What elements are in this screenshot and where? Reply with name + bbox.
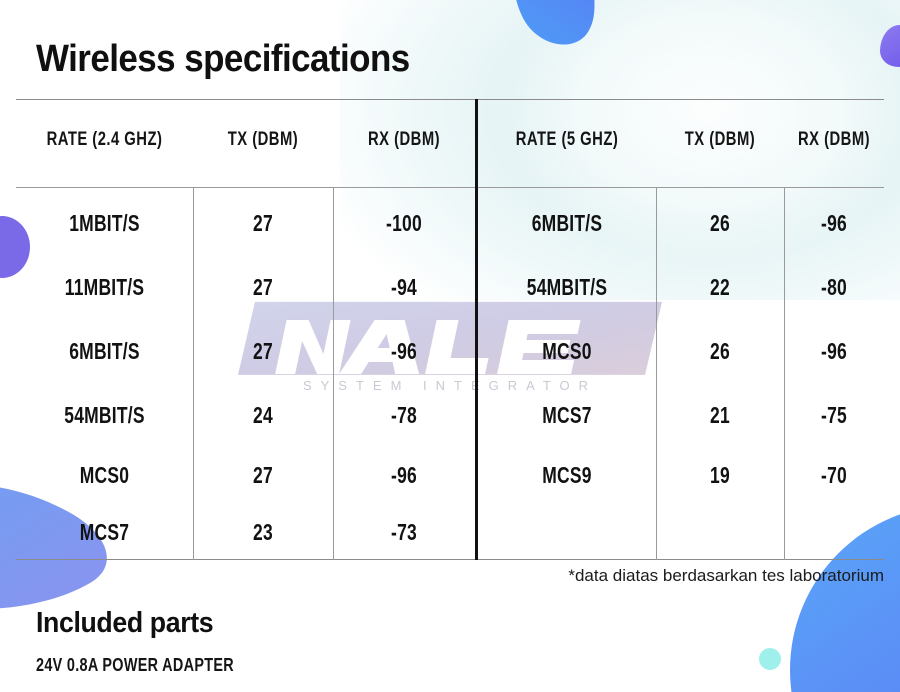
header-tx-dbm-left: TX (DBM) — [208, 129, 317, 151]
table-row: 24 — [210, 402, 316, 429]
table-row: -100 — [350, 210, 458, 237]
table-row: 26 — [671, 338, 768, 365]
slide-canvas: SYSTEM INTEGRATOR Wireless specification… — [0, 0, 900, 692]
table-row: 6MBIT/S — [37, 338, 172, 365]
table-row: 6MBIT/S — [499, 210, 634, 237]
table-row: -96 — [796, 338, 872, 365]
table-bottom-rule — [16, 559, 884, 560]
table-row: MCS7 — [37, 519, 172, 546]
table-footnote: *data diatas berdasarkan tes laboratoriu… — [568, 566, 884, 586]
cyan-dot — [759, 648, 781, 670]
header-rate-24ghz: RATE (2.4 GHZ) — [35, 129, 173, 151]
table-row: 11MBIT/S — [37, 274, 172, 301]
column-divider-left-1 — [193, 187, 194, 560]
table-row: -78 — [350, 402, 458, 429]
table-row: -96 — [350, 338, 458, 365]
table-row: -96 — [796, 210, 872, 237]
table-row: 26 — [671, 210, 768, 237]
table-row: 1MBIT/S — [37, 210, 172, 237]
page-title: Wireless specifications — [36, 38, 410, 81]
purple-blob-top-right — [880, 25, 900, 67]
table-row: -70 — [796, 462, 872, 489]
table-row: 54MBIT/S — [499, 274, 634, 301]
table-row: 22 — [671, 274, 768, 301]
table-top-rule — [16, 99, 884, 100]
table-row: 27 — [210, 338, 316, 365]
column-divider-left-2 — [333, 187, 334, 560]
table-row: -96 — [350, 462, 458, 489]
table-row: MCS0 — [499, 338, 634, 365]
table-row: 54MBIT/S — [37, 402, 172, 429]
table-row: 27 — [210, 462, 316, 489]
column-divider-right-1 — [656, 187, 657, 560]
table-row: 27 — [210, 210, 316, 237]
table-row: MCS7 — [499, 402, 634, 429]
table-row: 27 — [210, 274, 316, 301]
table-row: -73 — [350, 519, 458, 546]
table-row: 19 — [671, 462, 768, 489]
header-rx-dbm-right: RX (DBM) — [795, 129, 873, 151]
header-rate-5ghz: RATE (5 GHZ) — [498, 129, 637, 151]
column-divider-right-2 — [784, 187, 785, 560]
table-row: 23 — [210, 519, 316, 546]
table-row: MCS9 — [499, 462, 634, 489]
header-tx-dbm-right: TX (DBM) — [670, 129, 770, 151]
included-parts-heading: Included parts — [36, 607, 213, 640]
table-row: -75 — [796, 402, 872, 429]
table-center-divider — [475, 99, 478, 560]
table-row: MCS0 — [37, 462, 172, 489]
header-rx-dbm-left: RX (DBM) — [349, 129, 460, 151]
included-parts-item: 24V 0.8A POWER ADAPTER — [36, 655, 234, 676]
table-row: 21 — [671, 402, 768, 429]
wireless-spec-table: RATE (2.4 GHZ) TX (DBM) RX (DBM) RATE (5… — [16, 99, 884, 560]
table-row: -80 — [796, 274, 872, 301]
table-row: -94 — [350, 274, 458, 301]
table-header-rule — [16, 187, 884, 188]
blue-purple-blob-top — [502, 0, 702, 104]
